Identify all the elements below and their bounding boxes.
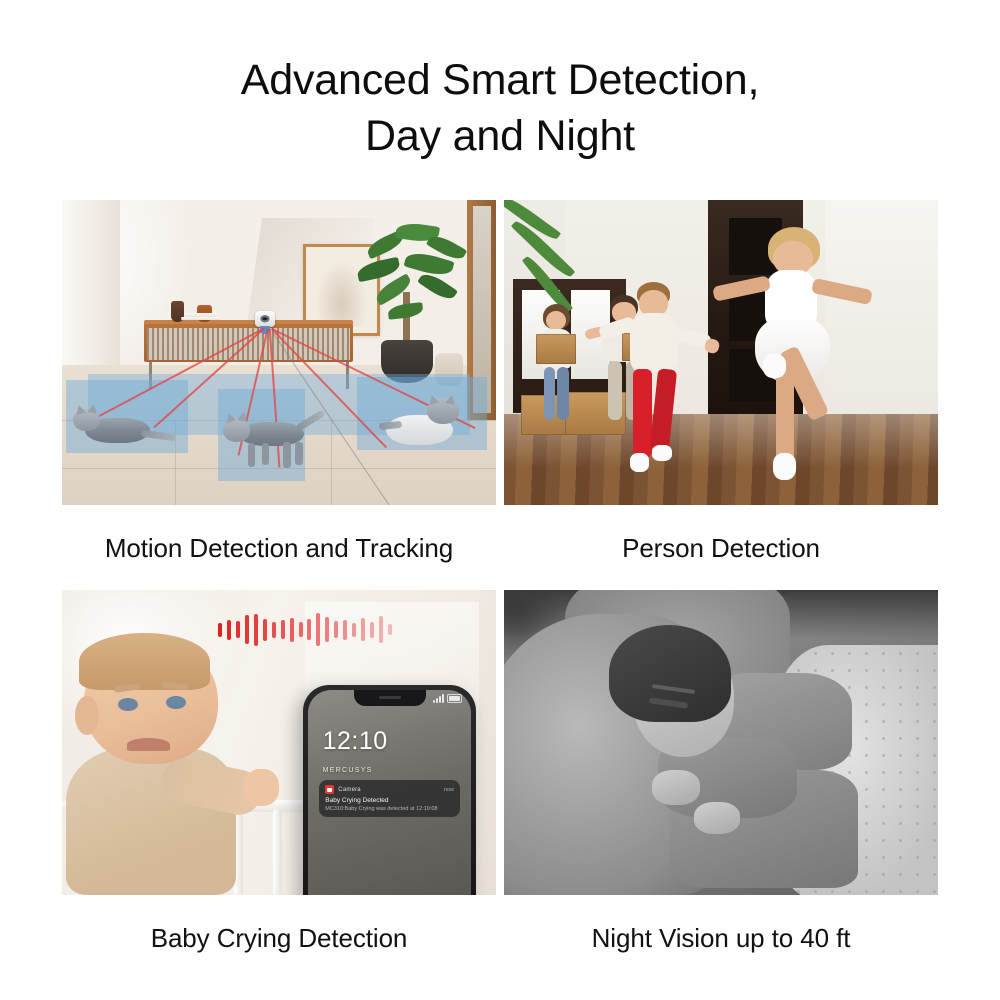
brand-label: MERCUSYS [323,767,373,774]
child-hand [652,770,701,805]
arm-right [811,278,873,305]
cat-lying-left [71,401,175,450]
cat-tail [296,409,326,431]
cat-ear [88,403,99,414]
feature-image-night-vision [504,590,938,895]
waveform-bar [218,623,222,637]
feature-grid-page: Advanced Smart Detection, Day and Night [0,0,1000,1000]
camera-app-icon [325,785,334,794]
feature-image-person-detection [504,200,938,505]
notification-app-name: Camera [338,787,361,793]
baby-eye [166,696,186,709]
waveform-bar [361,618,365,641]
person-mother [530,304,582,420]
notification-body: MC310:Baby Crying was detected at 12:10:… [325,806,454,812]
cat-leg [283,442,291,469]
baby-mouth-crying [127,738,170,751]
baby-hair [79,633,209,691]
nursery-scene: 12:10 MERCUSYS Camera now Baby Crying De… [62,590,496,895]
waveform-bar [299,622,303,637]
feature-image-baby-crying-detection: 12:10 MERCUSYS Camera now Baby Crying De… [62,590,496,895]
waveform-bar [227,620,231,640]
page-title: Advanced Smart Detection, Day and Night [0,52,1000,164]
page-title-line-1: Advanced Smart Detection, [0,52,1000,108]
sideboard-slats [147,328,350,360]
hallway-scene [504,200,938,505]
waveform-bar [370,622,374,638]
notification-timestamp: now [444,787,454,793]
waveform-bar [263,619,267,641]
waveform-bar [236,621,240,638]
sock-planted [773,453,796,480]
audio-waveform-icon [218,611,392,648]
phone-status-bar [433,694,462,703]
plant-leaf [387,302,423,319]
plant-leaf [417,270,458,304]
baby [66,633,283,895]
waveform-bar [281,620,285,639]
decor-books [184,313,217,317]
waveform-bar [307,619,311,640]
sock [652,445,671,461]
carried-box [536,334,576,364]
signal-bars-icon [433,694,444,703]
feature-caption-night-vision: Night Vision up to 40 ft [504,895,938,980]
waveform-bar [325,617,329,643]
feature-grid: Motion Detection and Tracking Person Det… [62,200,938,900]
feature-caption-motion-detection: Motion Detection and Tracking [62,505,496,590]
child-hair [609,625,731,722]
cat-sitting-right [379,395,474,450]
page-title-line-2: Day and Night [0,108,1000,164]
leg [557,367,568,419]
waveform-bar [272,622,276,638]
person-running-girl [734,227,864,495]
person-running-boy [613,282,700,483]
waveform-bar [316,613,320,647]
waveform-bar [245,615,249,644]
waveform-bar [379,616,383,642]
waveform-bar [290,618,294,642]
notification-title: Baby Crying Detected [325,797,454,804]
living-room-scene [62,200,496,505]
battery-icon [447,694,462,703]
sleeping-child [591,614,895,882]
security-camera [255,311,275,327]
notification-header: Camera now [325,785,454,794]
camera-lens-icon [260,315,269,323]
baby-hand [244,769,279,806]
cat-walking-center [223,407,327,468]
push-notification[interactable]: Camera now Baby Crying Detected MC310:Ba… [319,780,460,817]
waveform-bar [352,623,356,637]
waveform-bar [254,614,258,646]
sock-raised [763,354,786,378]
decor-books [181,317,220,321]
lock-screen-time: 12:10 [323,727,388,756]
night-vision-scene [504,590,938,895]
waveform-bar [334,621,338,638]
smartphone: 12:10 MERCUSYS Camera now Baby Crying De… [303,685,477,895]
child-hand [694,802,740,834]
sock [630,453,649,471]
cat-tail [141,429,177,441]
leg-planted [776,367,794,464]
waveform-bar [343,620,347,640]
phone-notch [354,690,426,706]
curtain [62,200,120,377]
baby-ear [75,696,99,735]
feature-caption-baby-crying-detection: Baby Crying Detection [62,895,496,980]
cat-leg [295,442,302,465]
phone-speaker [379,696,401,699]
cat-leg [262,443,269,465]
feature-image-motion-detection [62,200,496,505]
cat-leg [248,443,255,467]
phone-screen: 12:10 MERCUSYS Camera now Baby Crying De… [308,690,472,895]
feature-caption-person-detection: Person Detection [504,505,938,590]
leg-right [650,368,677,450]
torso-sweater [630,313,679,373]
waveform-bar [388,624,392,635]
leg [544,367,555,419]
